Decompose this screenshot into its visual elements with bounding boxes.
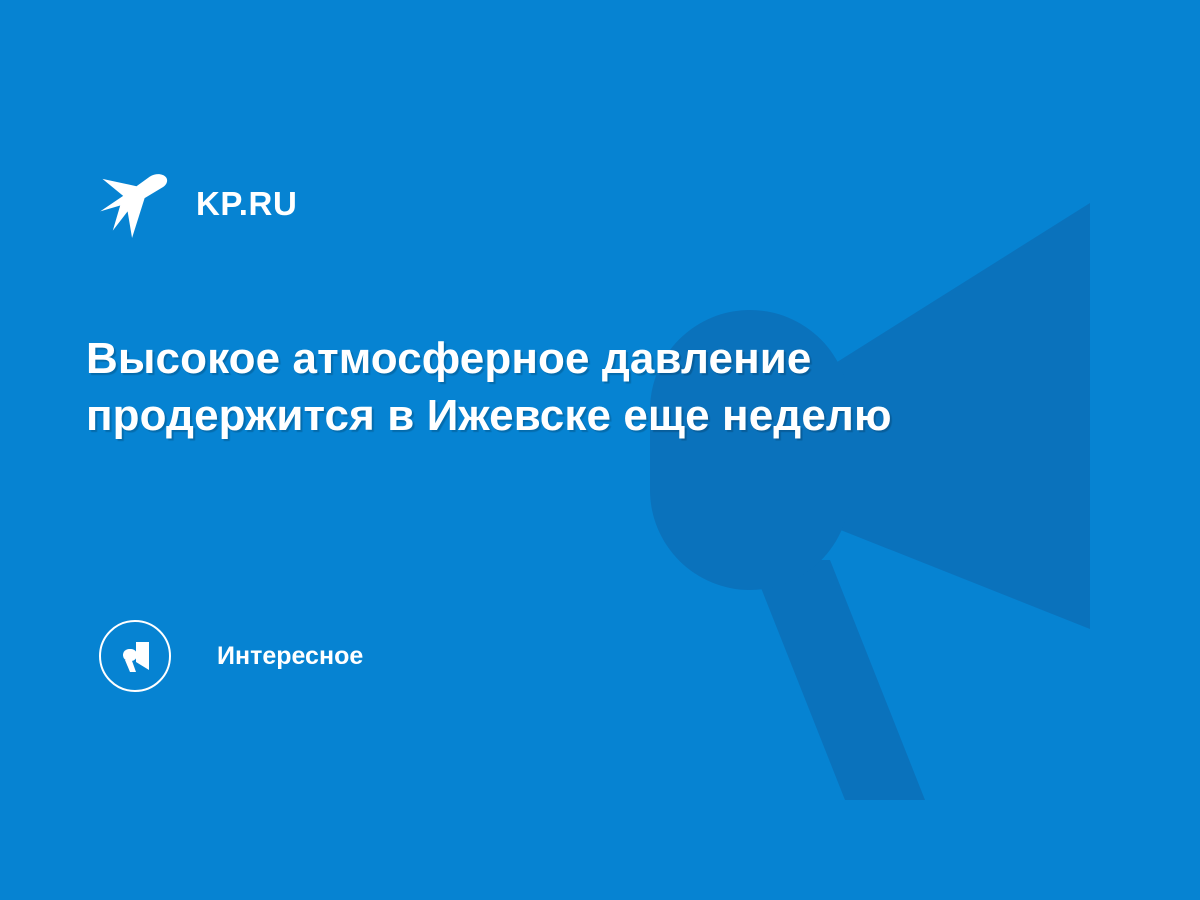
category-badge-label: Интересное [217,644,363,669]
article-share-card: KP.RU Высокое атмосферное давление проде… [0,0,1200,900]
swallow-bird-icon [98,167,172,241]
megaphone-icon [99,620,171,692]
megaphone-watermark-handle [750,560,925,800]
brand-logo-row[interactable]: KP.RU [98,172,297,234]
megaphone-watermark [0,0,1200,900]
category-badge[interactable]: Интересное [99,619,363,693]
brand-name: KP.RU [196,187,297,220]
page-title: Высокое атмосферное давление продержится… [86,330,1046,444]
